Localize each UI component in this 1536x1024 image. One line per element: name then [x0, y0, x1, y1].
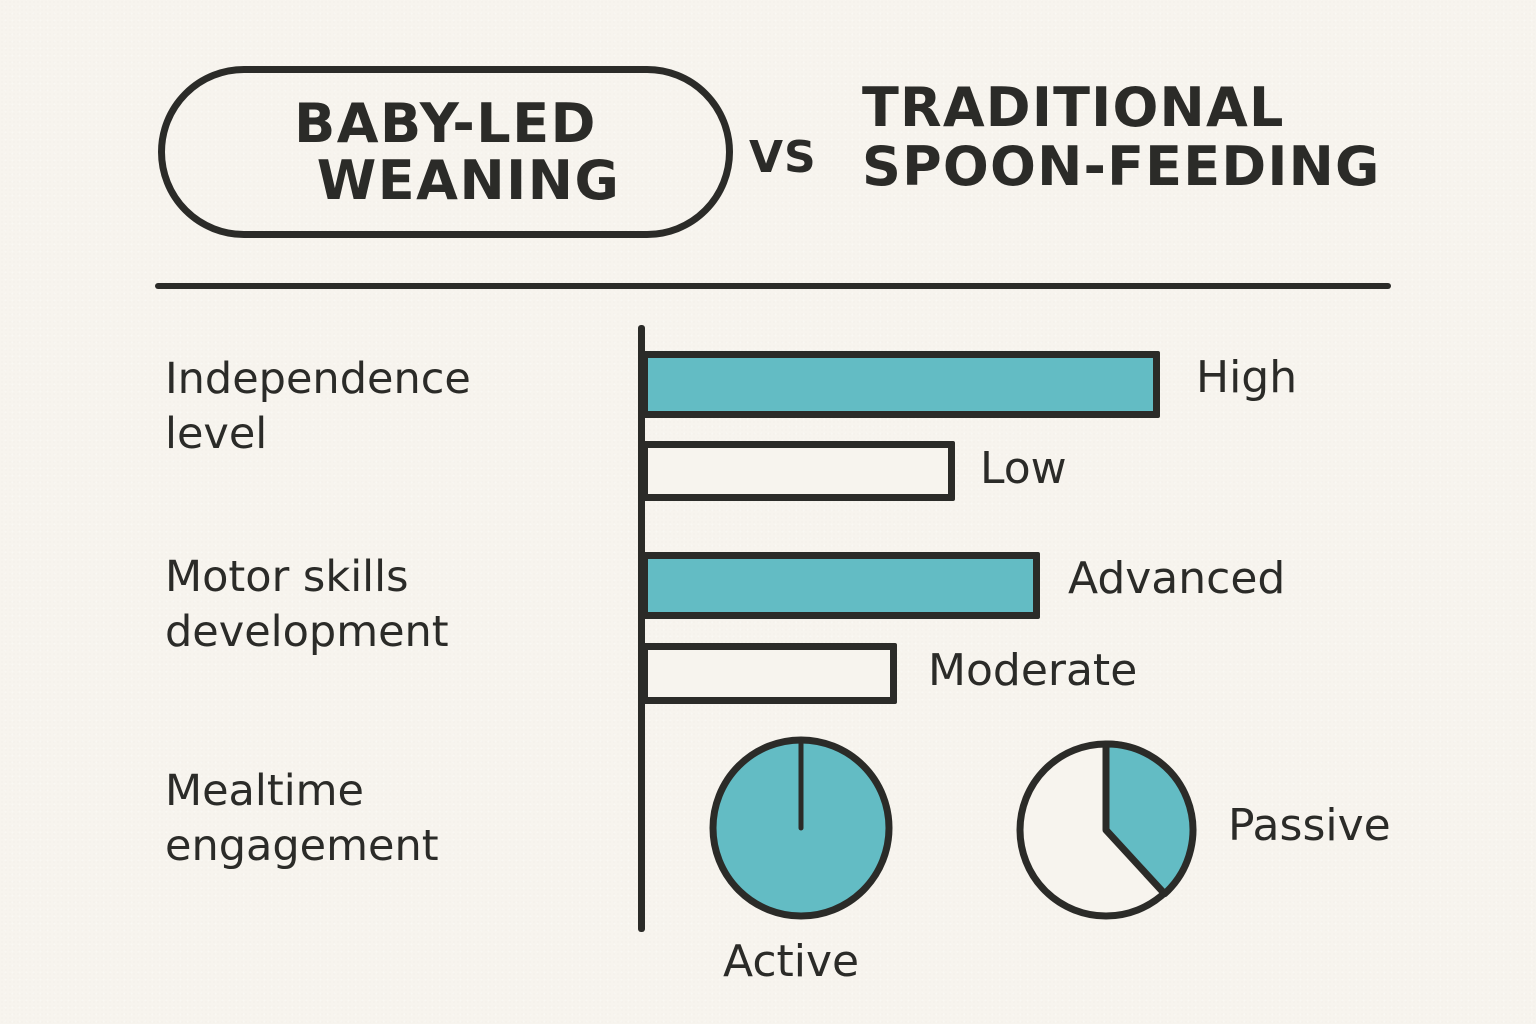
bar-value-moderate: Moderate	[928, 645, 1137, 696]
bar-motor-skills-traditional	[641, 643, 897, 704]
pie-chart-passive	[1012, 736, 1200, 924]
pie-active-svg	[706, 733, 896, 923]
bar-motor-skills-baby-led	[641, 552, 1040, 619]
pie-label-active: Active	[723, 936, 859, 987]
row-label-mealtime-engagement: Mealtime engagement	[165, 764, 439, 874]
chart-area: Independence level Motor skills developm…	[0, 0, 1536, 1024]
bar-value-low: Low	[980, 443, 1067, 494]
row-label-motor-skills-development: Motor skills development	[165, 550, 449, 660]
pie-passive-svg	[1012, 736, 1200, 924]
pie-chart-active	[706, 733, 896, 923]
bar-value-high: High	[1196, 352, 1297, 403]
bar-independence-baby-led	[641, 351, 1160, 418]
pie-label-passive: Passive	[1228, 800, 1391, 851]
bar-independence-traditional	[641, 441, 955, 501]
infographic-page: BABY-LED WEANING VS TRADITIONAL SPOON-FE…	[0, 0, 1536, 1024]
bar-value-advanced: Advanced	[1068, 553, 1285, 604]
row-label-independence-level: Independence level	[165, 352, 471, 462]
